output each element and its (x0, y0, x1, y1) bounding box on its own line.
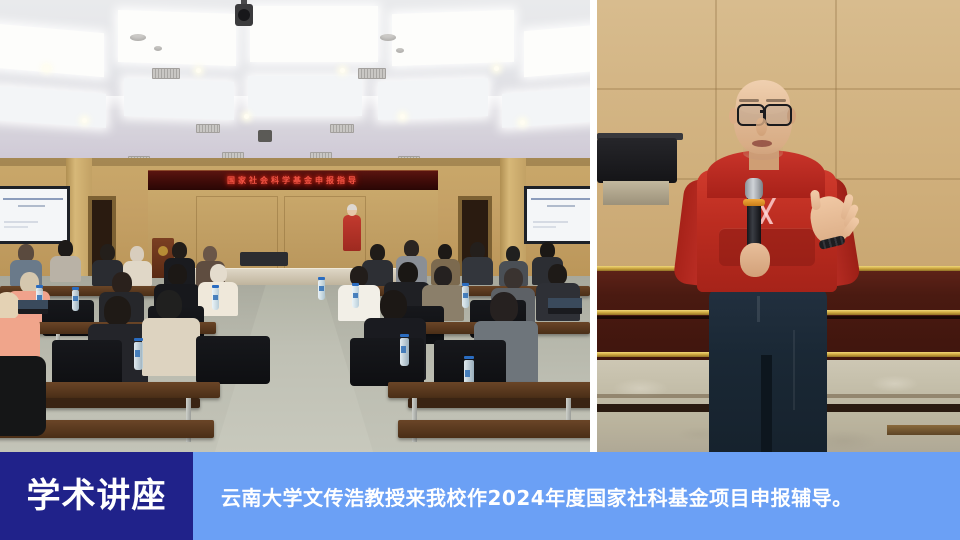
bench (887, 425, 960, 435)
stage-table (240, 252, 288, 266)
ceiling-speaker (154, 46, 162, 51)
microphone-ring (743, 199, 765, 206)
stage-desk-base (603, 181, 669, 205)
ceiling-speaker (380, 34, 396, 41)
projection-screen-right (524, 186, 590, 244)
ceiling-light-panel (0, 23, 104, 77)
speaker-eyebrow (766, 99, 786, 102)
caption-headline: 云南大学文传浩教授来我校作2024年度国家社科基金项目申报辅导。 (193, 482, 853, 511)
ceiling-speaker (130, 34, 146, 41)
glasses-icon (764, 104, 792, 126)
speaker-mic-hand (740, 243, 770, 277)
presenter-on-stage (343, 205, 361, 251)
stage-banner-text: 国家社会科学基金申报指导 (227, 175, 359, 186)
trouser-seam (761, 355, 772, 455)
ceiling-light-panel (250, 6, 378, 62)
ceiling-light-panel (0, 86, 106, 128)
caption-bar: 学术讲座 云南大学文传浩教授来我校作2024年度国家社科基金项目申报辅导。 (0, 452, 960, 540)
ceiling-light-panel (124, 78, 234, 120)
stage-banner: 国家社会科学基金申报指导 (148, 170, 438, 190)
ceiling-speaker (396, 48, 404, 53)
speaker-portrait-photo (597, 0, 960, 455)
screenshot-root: 国家社会科学基金申报指导 (0, 0, 960, 540)
category-badge: 学术讲座 (0, 452, 193, 540)
microphone-icon (745, 178, 763, 200)
glasses-bridge (760, 110, 766, 113)
conference-hall-photo: 国家社会科学基金申报指导 (0, 0, 590, 455)
projection-screen-left (0, 186, 70, 244)
stage-desk (597, 138, 677, 183)
trouser-fly (757, 296, 760, 322)
ceiling-light-panel (378, 78, 488, 120)
speaker-eyebrow (739, 99, 759, 102)
category-badge-label: 学术讲座 (27, 479, 167, 513)
ceiling-camera-icon (235, 4, 253, 26)
ceiling-projector (258, 130, 272, 142)
trouser-side-seam (793, 330, 795, 410)
ceiling-light-panel (502, 86, 590, 128)
ceiling-light-panel (248, 76, 362, 116)
speaker-chin-shadow (743, 146, 783, 160)
speaker-nose (756, 118, 767, 136)
ceiling-light-panel (392, 10, 514, 66)
caption-body: 云南大学文传浩教授来我校作2024年度国家社科基金项目申报辅导。 (193, 452, 960, 540)
